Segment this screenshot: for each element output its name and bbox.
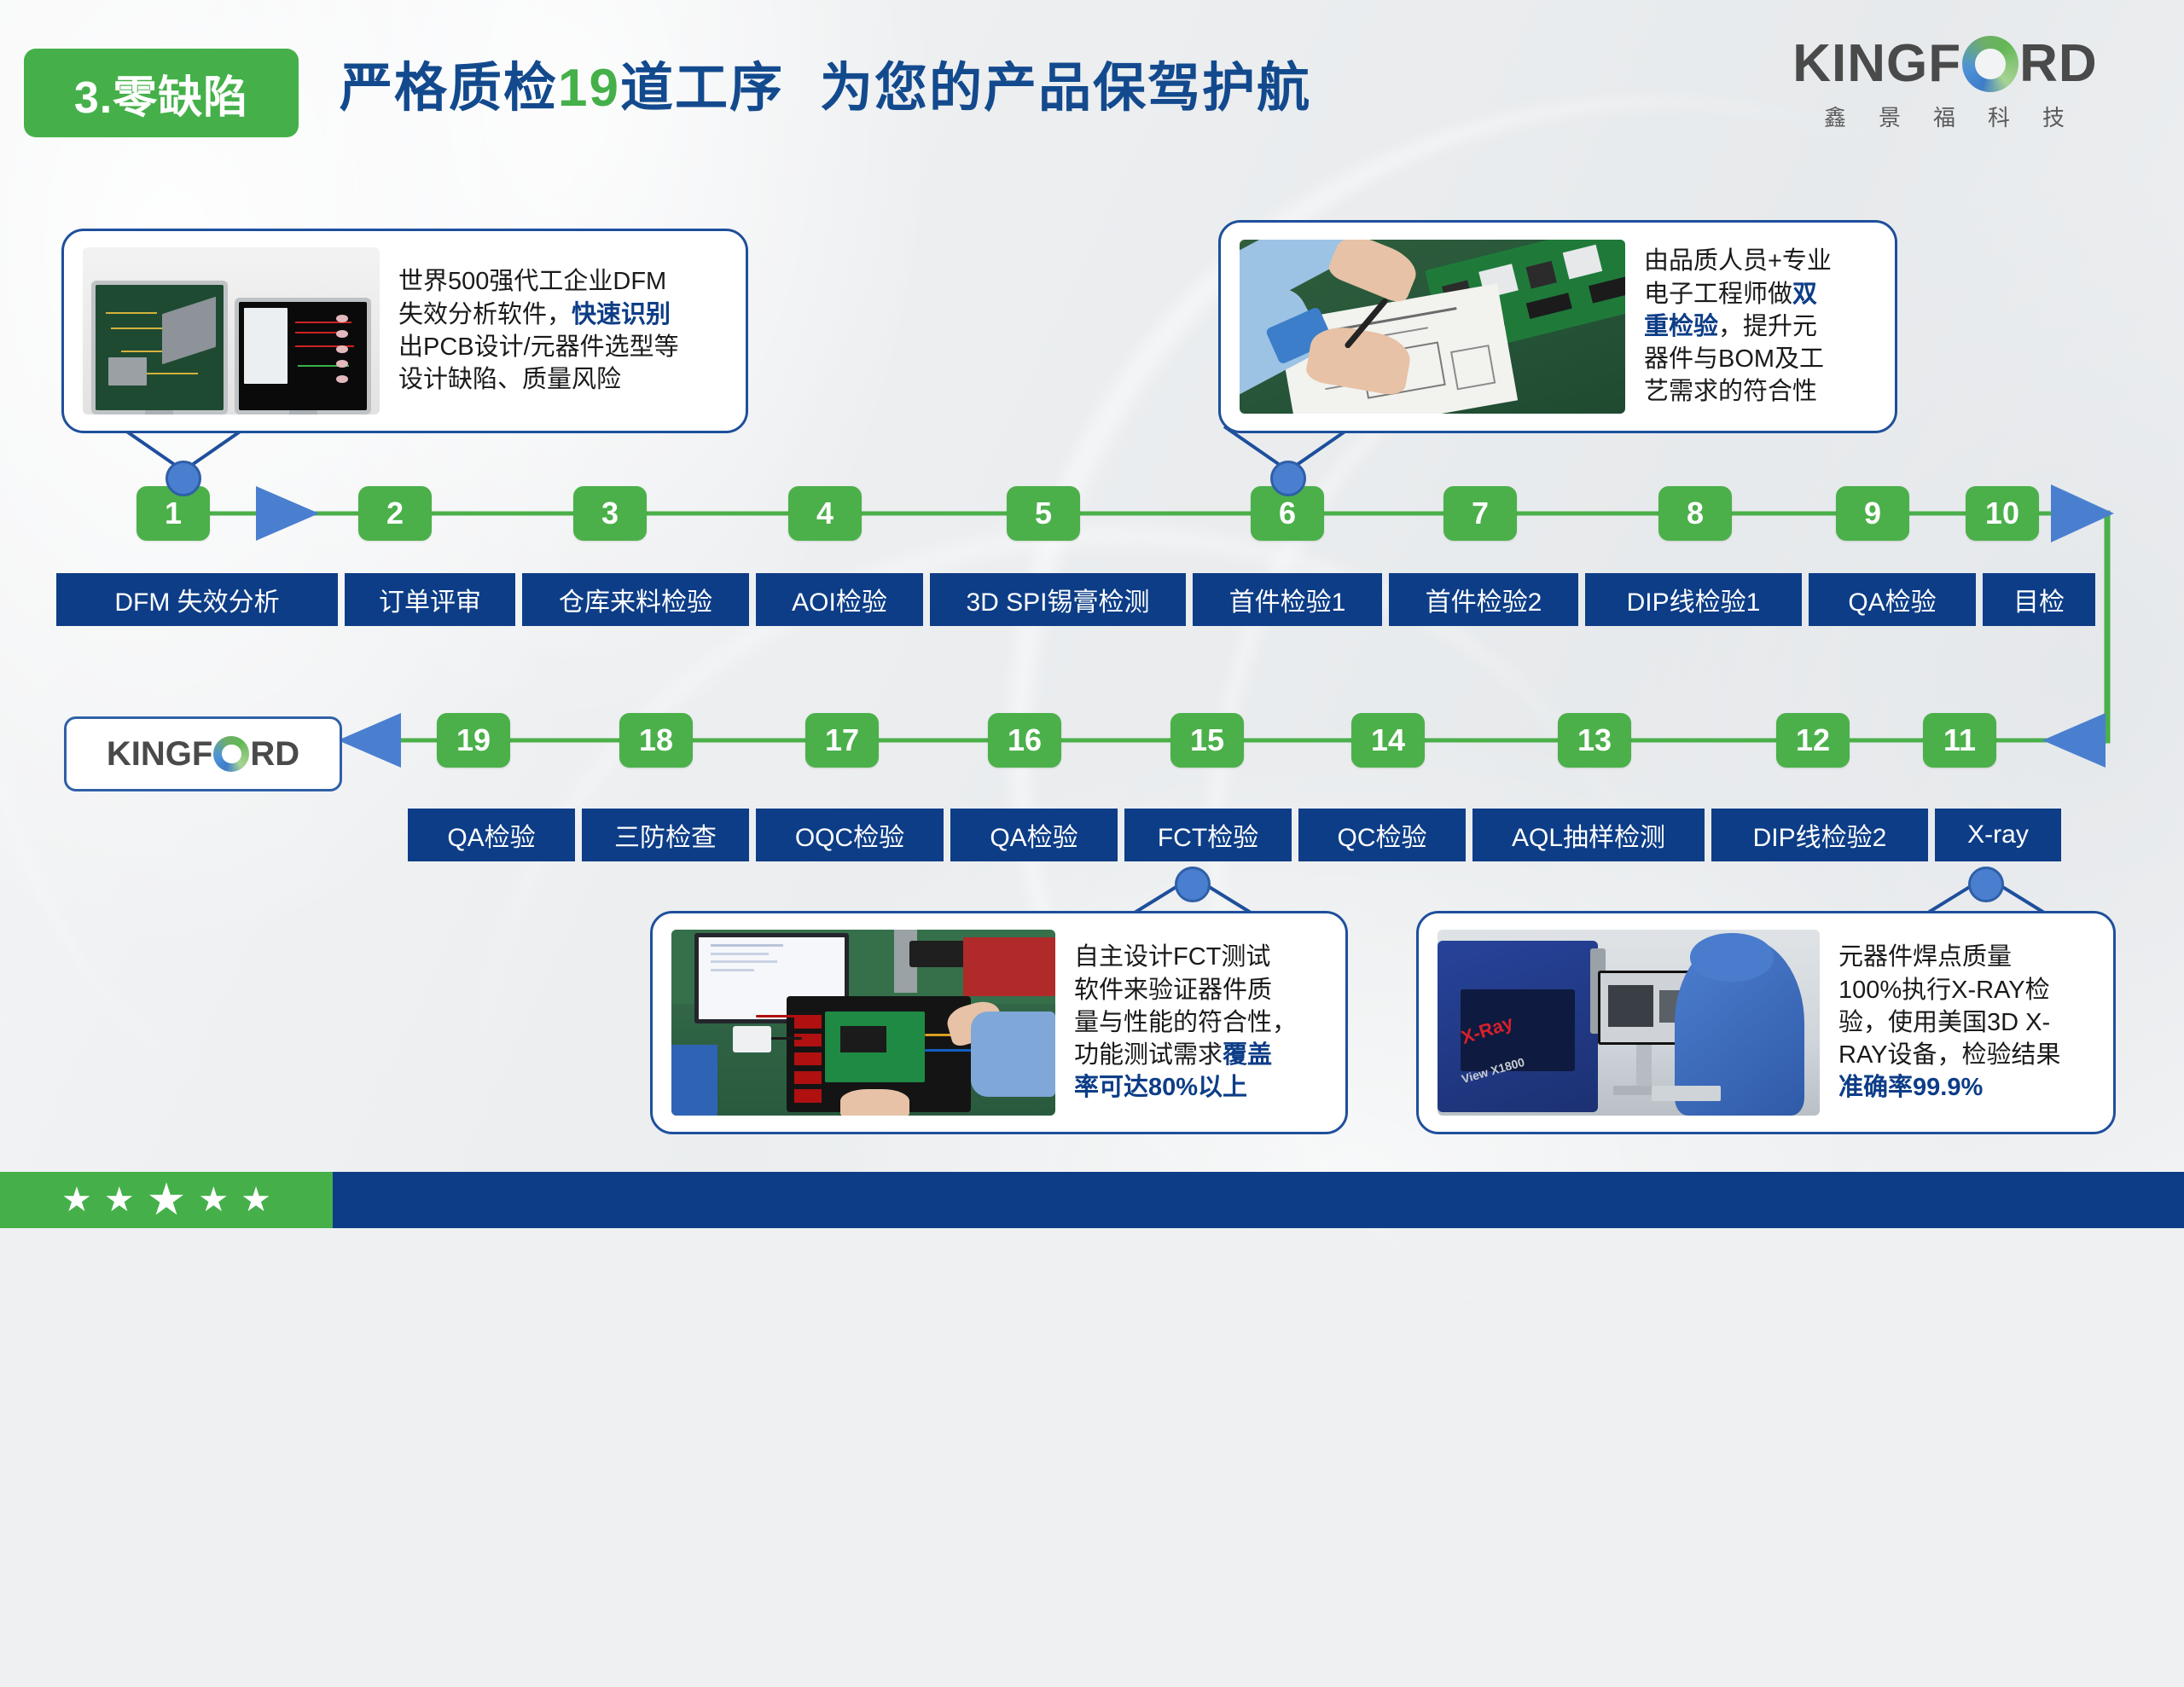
step-number: 14 (1371, 722, 1405, 758)
step-label-16: QA检验 (950, 809, 1118, 861)
step-label-5: 3D SPI锡膏检测 (930, 573, 1186, 626)
step-label-19: QA检验 (408, 809, 575, 861)
title-part-2: 道工序 (620, 59, 784, 118)
step-label-17: OQC检验 (756, 809, 944, 861)
title-part-1: 严格质检 (340, 59, 558, 118)
step-chip-5[interactable]: 5 (1007, 486, 1080, 541)
step-number: 17 (825, 722, 859, 758)
step-label-7: 首件检验2 (1389, 573, 1578, 626)
step-label-12: DIP线检验2 (1711, 809, 1928, 861)
callout-xray: X-Ray View X1800 元器件焊点质量 100%执行X-RAY检 验，… (1416, 911, 2116, 1134)
step-label-11: X-ray (1935, 809, 2061, 861)
footer-rating: ★ ★ ★ ★ ★ (0, 1172, 333, 1228)
callout-xray-photo: X-Ray View X1800 (1438, 930, 1820, 1116)
step-number: 1 (165, 496, 182, 531)
step-number: 2 (386, 496, 404, 531)
callout-xray-text: 元器件焊点质量 100%执行X-RAY检 验，使用美国3D X- RAY设备，检… (1838, 941, 2060, 1104)
callout-dfm-photo (83, 247, 380, 415)
step-label-3: 仓库来料检验 (522, 573, 749, 626)
logo-sub-char: 鑫 (1824, 101, 1848, 132)
step-chip-19[interactable]: 19 (437, 713, 510, 768)
callout-fct-photo (671, 930, 1055, 1116)
end-logo-text-post: RD (250, 737, 299, 771)
step-label-10: 目检 (1983, 573, 2095, 626)
callout-fai-text: 由品质人员+专业 电子工程师做双 重检验，提升元 器件与BOM及工 艺需求的符合… (1644, 245, 1832, 408)
logo-sub-char: 技 (2042, 101, 2066, 132)
star-icon: ★ (241, 1183, 271, 1217)
step-chip-9[interactable]: 9 (1836, 486, 1909, 541)
step-number: 7 (1472, 496, 1489, 531)
step-number: 13 (1577, 722, 1612, 758)
step-chip-10[interactable]: 10 (1966, 486, 2039, 541)
logo-text-pre: KINGF (1792, 38, 1961, 90)
page-title: 严格质检19道工序为您的产品保驾护航 (340, 44, 1311, 121)
step-number: 5 (1035, 496, 1052, 531)
step-number: 10 (1985, 496, 2019, 531)
step-label-13: AQL抽样检测 (1472, 809, 1705, 861)
star-icon: ★ (61, 1183, 92, 1217)
callout-fct-text: 自主设计FCT测试 软件来验证器件质 量与性能的符合性， 功能测试需求覆盖 率可… (1074, 941, 1297, 1104)
callout-dfm: 世界500强代工企业DFM 失效分析软件，快速识别 出PCB设计/元器件选型等 … (61, 229, 748, 433)
step-chip-2[interactable]: 2 (358, 486, 432, 541)
step-label-2: 订单评审 (345, 573, 515, 626)
step-label-18: 三防检查 (582, 809, 749, 861)
callout-xray-tail-dot (1968, 867, 2004, 902)
step-label-8: DIP线检验1 (1585, 573, 1802, 626)
title-highlight-number: 19 (558, 59, 620, 118)
star-icon: ★ (104, 1183, 135, 1217)
title-part-3: 为您的产品保驾护航 (820, 59, 1311, 118)
step-chip-12[interactable]: 12 (1776, 713, 1850, 768)
step-chip-4[interactable]: 4 (788, 486, 862, 541)
page-header: 3.零缺陷 严格质检19道工序为您的产品保驾护航 KINGF RD 鑫 景 福 … (0, 0, 2184, 145)
step-label-1: DFM 失效分析 (56, 573, 338, 626)
step-label-6: 首件检验1 (1193, 573, 1382, 626)
step-number: 19 (456, 722, 491, 758)
logo-subtitle: 鑫 景 福 科 技 (1766, 101, 2124, 132)
star-icon: ★ (198, 1183, 229, 1217)
step-number: 9 (1864, 496, 1881, 531)
step-chip-17[interactable]: 17 (805, 713, 879, 768)
logo-sphere-icon (213, 736, 249, 772)
step-number: 4 (816, 496, 834, 531)
step-label-14: QC检验 (1298, 809, 1466, 861)
step-number: 3 (601, 496, 619, 531)
step-label-15: FCT检验 (1124, 809, 1292, 861)
step-chip-1[interactable]: 1 (136, 486, 210, 541)
callout-fct-tail-dot (1175, 867, 1211, 902)
step-label-9: QA检验 (1809, 573, 1976, 626)
flow-end-logo: KINGF RD (64, 716, 342, 791)
logo-text-post: RD (2019, 38, 2098, 90)
step-number: 15 (1190, 722, 1224, 758)
brand-logo: KINGF RD 鑫 景 福 科 技 (1766, 32, 2124, 135)
step-number: 18 (639, 722, 673, 758)
logo-sub-char: 科 (1988, 101, 2012, 132)
step-number: 12 (1796, 722, 1830, 758)
step-label-4: AOI检验 (756, 573, 923, 626)
step-chip-15[interactable]: 15 (1170, 713, 1244, 768)
callout-fct: 自主设计FCT测试 软件来验证器件质 量与性能的符合性， 功能测试需求覆盖 率可… (650, 911, 1348, 1134)
step-chip-8[interactable]: 8 (1658, 486, 1732, 541)
step-chip-13[interactable]: 13 (1558, 713, 1631, 768)
logo-sphere-icon (1962, 36, 2018, 92)
callout-fai: 由品质人员+专业 电子工程师做双 重检验，提升元 器件与BOM及工 艺需求的符合… (1218, 220, 1897, 433)
step-chip-18[interactable]: 18 (619, 713, 693, 768)
logo-sub-char: 福 (1933, 101, 1957, 132)
callout-dfm-text: 世界500强代工企业DFM 失效分析软件，快速识别 出PCB设计/元器件选型等 … (398, 265, 679, 396)
step-chip-14[interactable]: 14 (1351, 713, 1425, 768)
callout-fai-photo (1240, 240, 1625, 414)
step-chip-3[interactable]: 3 (573, 486, 647, 541)
star-icon: ★ (147, 1178, 187, 1222)
step-number: 8 (1687, 496, 1704, 531)
section-badge-label: 3.零缺陷 (74, 61, 248, 125)
callout-fai-tail-dot (1270, 461, 1306, 496)
logo-sub-char: 景 (1879, 101, 1902, 132)
callout-dfm-tail-dot (166, 461, 201, 496)
step-number: 6 (1279, 496, 1296, 531)
step-number: 16 (1008, 722, 1042, 758)
step-chip-11[interactable]: 11 (1923, 713, 1996, 768)
step-chip-7[interactable]: 7 (1443, 486, 1517, 541)
end-logo-text-pre: KINGF (107, 737, 212, 771)
step-number: 11 (1943, 722, 1976, 758)
section-badge: 3.零缺陷 (24, 49, 299, 137)
step-chip-16[interactable]: 16 (988, 713, 1061, 768)
